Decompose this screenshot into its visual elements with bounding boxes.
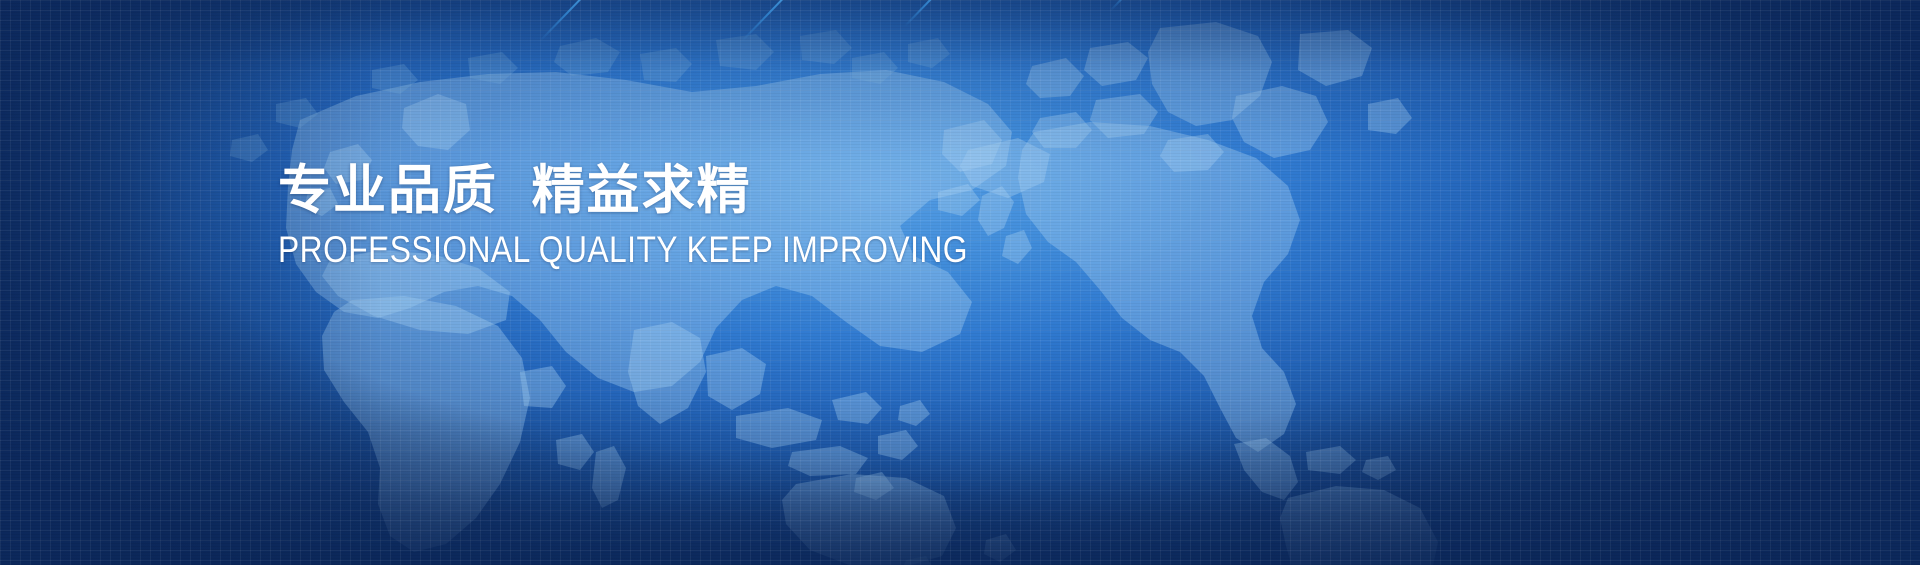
hero-banner: 专业品质 精益求精 PROFESSIONAL QUALITY KEEP IMPR… [0, 0, 1920, 565]
background-edge-fade [0, 0, 1920, 565]
banner-headline-chinese: 专业品质 精益求精 [278, 160, 1178, 223]
banner-subline-english: PROFESSIONAL QUALITY KEEP IMPROVING [278, 229, 1052, 270]
banner-text-block: 专业品质 精益求精 PROFESSIONAL QUALITY KEEP IMPR… [278, 160, 1178, 270]
